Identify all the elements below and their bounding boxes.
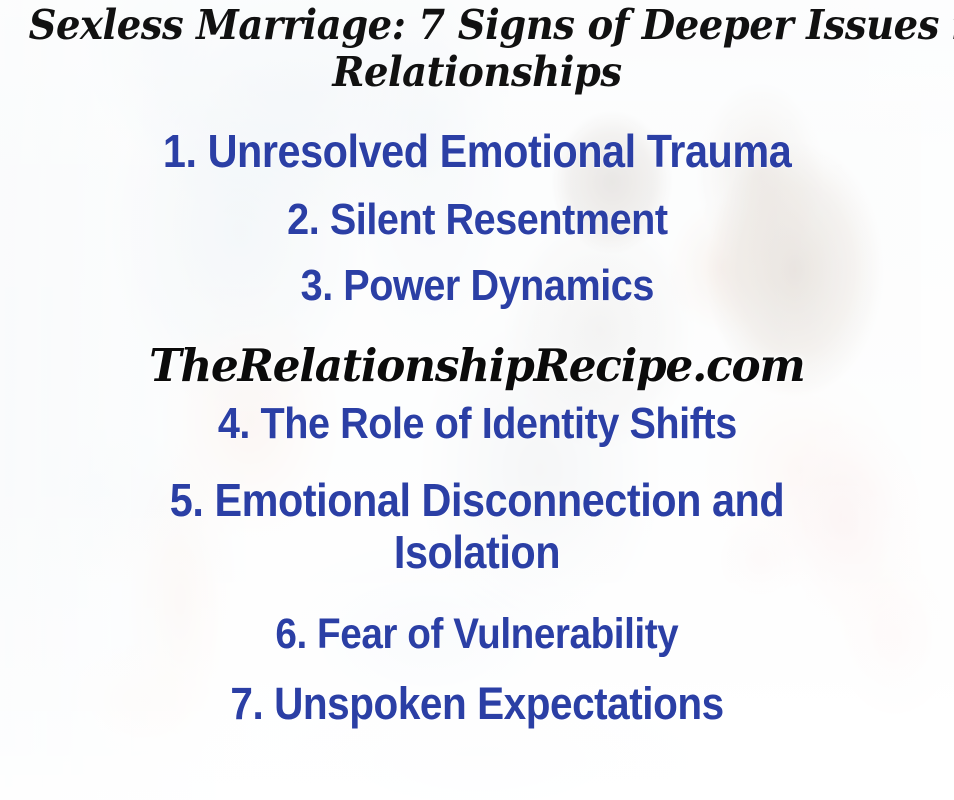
sign-item-7-label: 7. Unspoken Expectations — [230, 676, 723, 732]
site-watermark: TheRelationshipRecipe.com — [0, 338, 954, 394]
sign-item-2: 2. Silent Resentment — [0, 192, 954, 248]
sign-item-2-label: 2. Silent Resentment — [287, 192, 668, 248]
sign-item-1: 1. Unresolved Emotional Trauma — [0, 122, 954, 180]
signs-list: 1. Unresolved Emotional Trauma 2. Silent… — [0, 122, 954, 732]
title-line-1: Sexless Marriage: 7 Signs of Deeper Issu… — [29, 2, 926, 49]
sign-item-6-label: 6. Fear of Vulnerability — [276, 606, 679, 662]
poster-canvas: Sexless Marriage: 7 Signs of Deeper Issu… — [0, 0, 954, 800]
sign-item-6: 6. Fear of Vulnerability — [0, 606, 954, 662]
poster-content: Sexless Marriage: 7 Signs of Deeper Issu… — [0, 0, 954, 800]
sign-item-3-label: 3. Power Dynamics — [300, 258, 653, 314]
sign-item-7: 7. Unspoken Expectations — [0, 676, 954, 732]
sign-item-5: 5. Emotional Disconnection and Isolation — [77, 474, 877, 578]
sign-item-4-label: 4. The Role of Identity Shifts — [218, 396, 737, 452]
poster-title: Sexless Marriage: 7 Signs of Deeper Issu… — [0, 2, 954, 96]
sign-item-4: 4. The Role of Identity Shifts — [0, 396, 954, 452]
title-line-2: Relationships — [29, 49, 926, 96]
sign-item-3: 3. Power Dynamics — [0, 258, 954, 314]
site-watermark-text: TheRelationshipRecipe.com — [149, 338, 804, 394]
sign-item-1-label: 1. Unresolved Emotional Trauma — [163, 122, 791, 180]
sign-item-5-label: 5. Emotional Disconnection and Isolation — [117, 474, 837, 578]
